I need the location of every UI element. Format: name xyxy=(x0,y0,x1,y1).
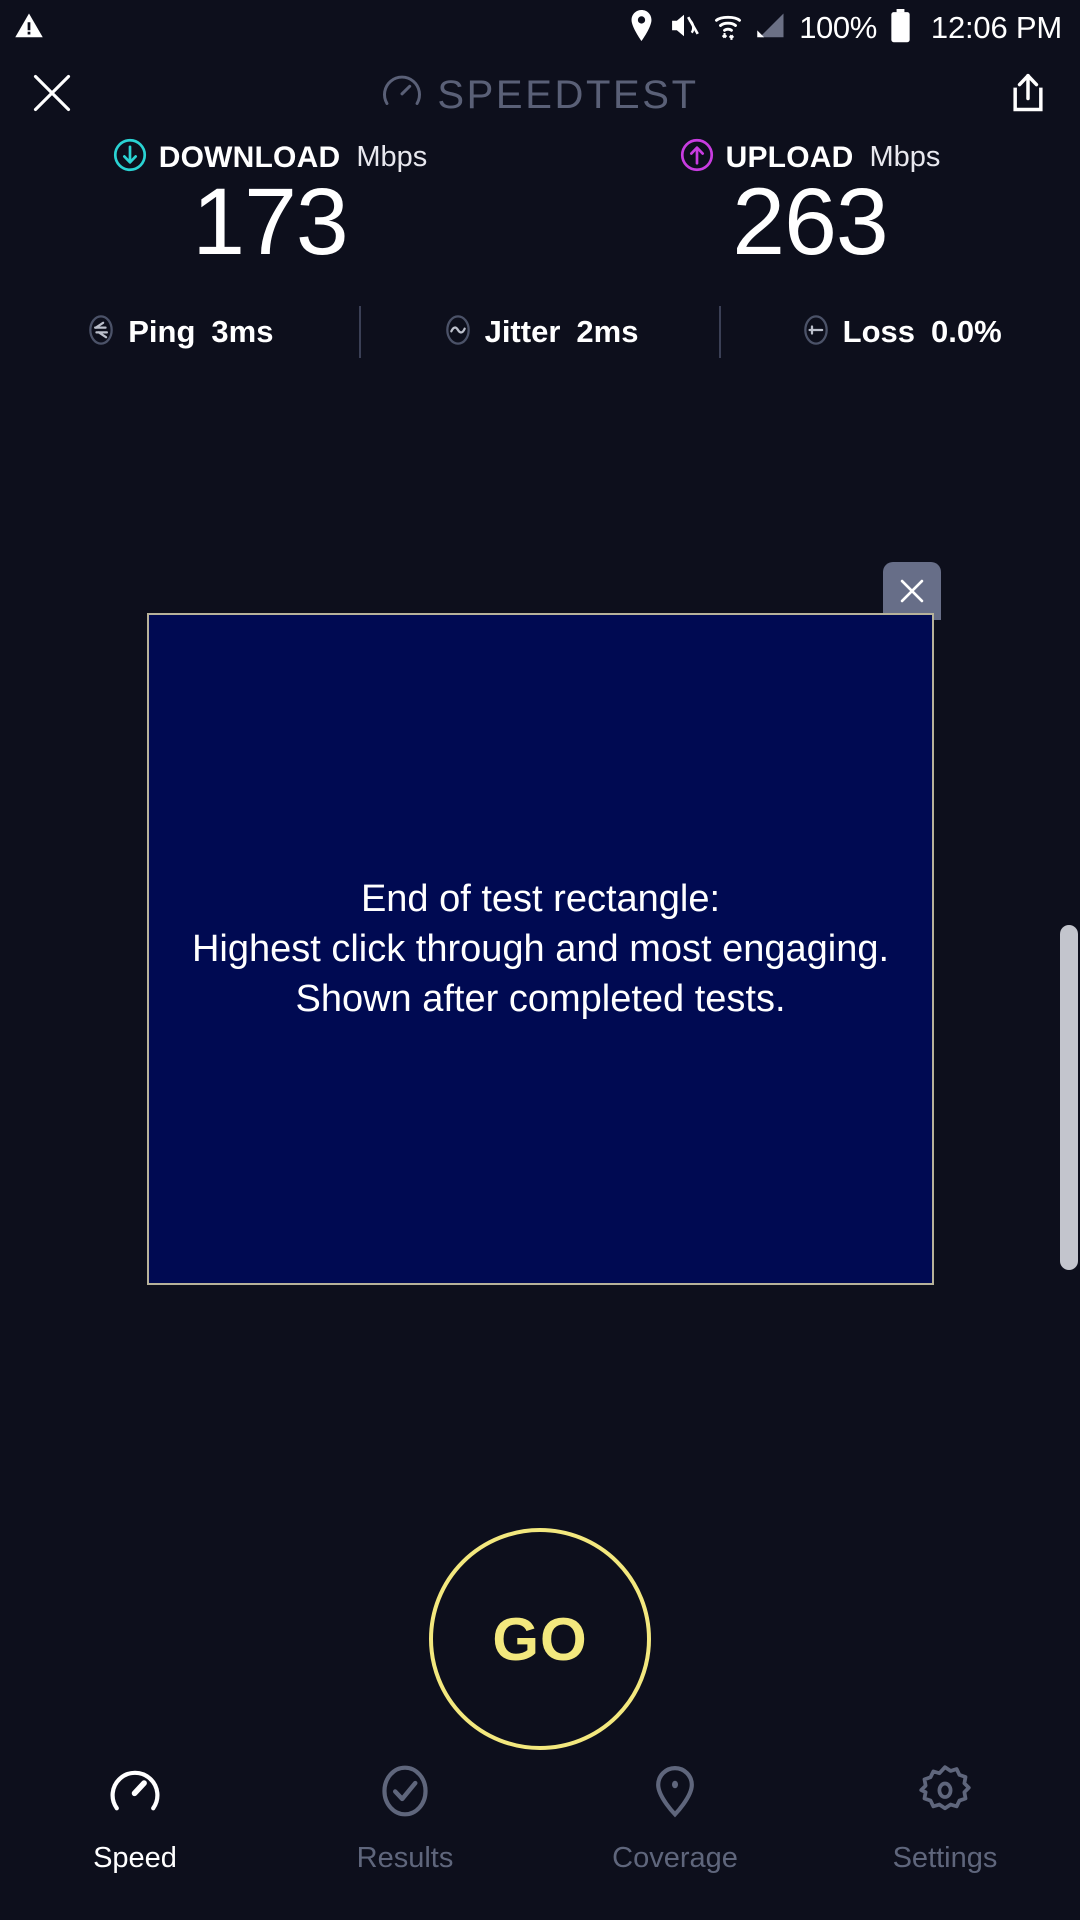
ping-icon xyxy=(85,314,117,351)
ping-value: 3ms xyxy=(211,314,273,350)
ad-text: End of test rectangle: Highest click thr… xyxy=(149,874,932,1024)
loss-value: 0.0% xyxy=(931,314,1002,350)
advertisement-banner[interactable]: End of test rectangle: Highest click thr… xyxy=(147,613,934,1285)
metric-loss: Loss 0.0% xyxy=(721,314,1080,351)
location-pin-icon xyxy=(647,1763,703,1824)
ad-line: Shown after completed tests. xyxy=(163,974,918,1024)
clock-label: 12:06 PM xyxy=(931,10,1062,46)
nav-label-speed: Speed xyxy=(93,1842,177,1875)
metric-ping: Ping 3ms xyxy=(0,314,359,351)
loss-icon xyxy=(800,314,832,351)
metric-jitter: Jitter 2ms xyxy=(361,314,720,351)
go-button[interactable]: GO xyxy=(429,1528,651,1750)
warning-triangle-icon xyxy=(14,11,44,46)
download-arrow-icon xyxy=(113,138,147,177)
speedometer-icon xyxy=(381,72,423,119)
nav-item-settings[interactable]: Settings xyxy=(810,1763,1080,1875)
location-pin-icon xyxy=(628,10,655,46)
nav-item-results[interactable]: Results xyxy=(270,1763,540,1875)
page-title: SPEEDTEST xyxy=(0,56,1080,134)
nav-item-speed[interactable]: Speed xyxy=(0,1763,270,1875)
metrics-row: Ping 3ms Jitter 2ms Loss xyxy=(0,305,1080,359)
nav-item-coverage[interactable]: Coverage xyxy=(540,1763,810,1875)
go-button-label: GO xyxy=(492,1605,587,1674)
battery-full-icon xyxy=(890,9,911,48)
close-icon xyxy=(895,574,929,608)
close-icon[interactable] xyxy=(30,71,74,120)
results-row: DOWNLOAD Mbps 173 UPLOAD Mbps xyxy=(0,138,1080,273)
mute-icon xyxy=(668,10,700,46)
speedometer-icon xyxy=(107,1763,163,1824)
jitter-icon xyxy=(442,314,474,351)
cell-signal-icon xyxy=(756,12,786,45)
app-header: SPEEDTEST xyxy=(0,56,1080,134)
nav-label-settings: Settings xyxy=(893,1842,998,1875)
app-title-label: SPEEDTEST xyxy=(437,73,698,118)
share-icon[interactable] xyxy=(1006,71,1050,120)
ping-label: Ping xyxy=(128,314,195,350)
download-unit: Mbps xyxy=(356,141,427,174)
download-value: 173 xyxy=(192,173,348,273)
upload-result: UPLOAD Mbps 263 xyxy=(540,138,1080,273)
bottom-navigation-bar: Speed Results Coverage xyxy=(0,1745,1080,1920)
vertical-scrollbar[interactable] xyxy=(1060,925,1078,1270)
wifi-icon xyxy=(713,10,743,46)
upload-value: 263 xyxy=(732,173,888,273)
ad-close-button[interactable] xyxy=(883,562,941,620)
status-bar: 100% 12:06 PM xyxy=(0,0,1080,56)
loss-label: Loss xyxy=(843,314,915,350)
results-summary: DOWNLOAD Mbps 173 UPLOAD Mbps xyxy=(0,138,1080,273)
battery-percent-label: 100% xyxy=(799,10,877,46)
speedtest-app-screen: 100% 12:06 PM SPEEDTEST xyxy=(0,0,1080,1920)
gear-icon xyxy=(917,1763,973,1824)
jitter-label: Jitter xyxy=(485,314,561,350)
download-result: DOWNLOAD Mbps 173 xyxy=(0,138,540,273)
jitter-value: 2ms xyxy=(576,314,638,350)
nav-label-results: Results xyxy=(357,1842,454,1875)
upload-arrow-icon xyxy=(680,138,714,177)
ad-line: End of test rectangle: xyxy=(163,874,918,924)
ad-line: Highest click through and most engaging. xyxy=(163,924,918,974)
status-bar-right-icons: 100% 12:06 PM xyxy=(628,9,1062,48)
check-circle-icon xyxy=(377,1763,433,1824)
status-bar-left-icons xyxy=(14,11,44,46)
nav-label-coverage: Coverage xyxy=(612,1842,738,1875)
